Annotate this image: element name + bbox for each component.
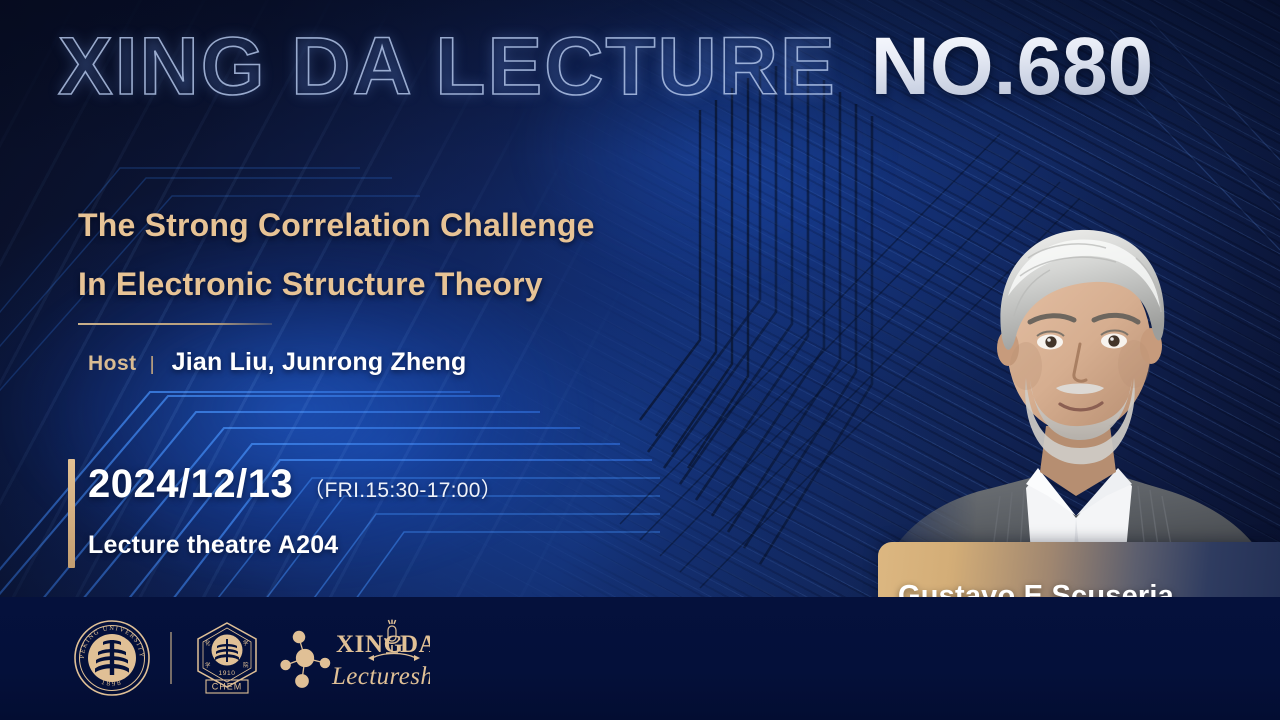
host-divider-rule <box>78 323 272 325</box>
lecture-number: NO.680 <box>871 26 1154 108</box>
date-accent-bar <box>68 459 75 568</box>
svg-text:院: 院 <box>243 661 249 669</box>
host-names: Jian Liu, Junrong Zheng <box>172 348 467 377</box>
svg-text:学: 学 <box>205 661 211 669</box>
date-row: 2024/12/13 （FRI.15:30-17:00） <box>88 462 502 507</box>
xing-da-lectureship-logo: XING DA Lectureship <box>280 618 430 698</box>
lecture-title: The Strong Correlation Challenge In Elec… <box>78 196 778 314</box>
lecture-title-line-2: In Electronic Structure Theory <box>78 255 778 314</box>
lecture-poster: XING DA LECTURE NO.680 The Strong Correl… <box>0 0 1280 720</box>
host-label: Host <box>88 352 137 376</box>
logo-divider <box>170 632 172 684</box>
poster-header: XING DA LECTURE NO.680 <box>58 26 1153 108</box>
svg-text:CHEM: CHEM <box>211 682 242 692</box>
peking-university-seal-logo: PEKING UNIVERSITY 1898 <box>72 618 152 698</box>
series-title: XING DA LECTURE <box>58 26 837 108</box>
lecture-title-line-1: The Strong Correlation Challenge <box>78 196 778 255</box>
host-row: Host | Jian Liu, Junrong Zheng <box>88 348 466 377</box>
svg-text:1910: 1910 <box>218 670 235 677</box>
lecture-time: （FRI.15:30-17:00） <box>303 474 502 504</box>
svg-text:Lectureship: Lectureship <box>331 663 430 690</box>
pku-chemistry-hexagon-logo: 化 学 学 院 1910 CHEM <box>190 618 264 698</box>
svg-text:化: 化 <box>205 639 211 647</box>
lecture-venue: Lecture theatre A204 <box>88 531 338 560</box>
lecture-date: 2024/12/13 <box>88 462 293 507</box>
footer-logo-row: PEKING UNIVERSITY 1898 化 学 学 院 1910 <box>72 618 430 698</box>
host-separator: | <box>150 354 155 376</box>
svg-text:学: 学 <box>243 639 249 647</box>
